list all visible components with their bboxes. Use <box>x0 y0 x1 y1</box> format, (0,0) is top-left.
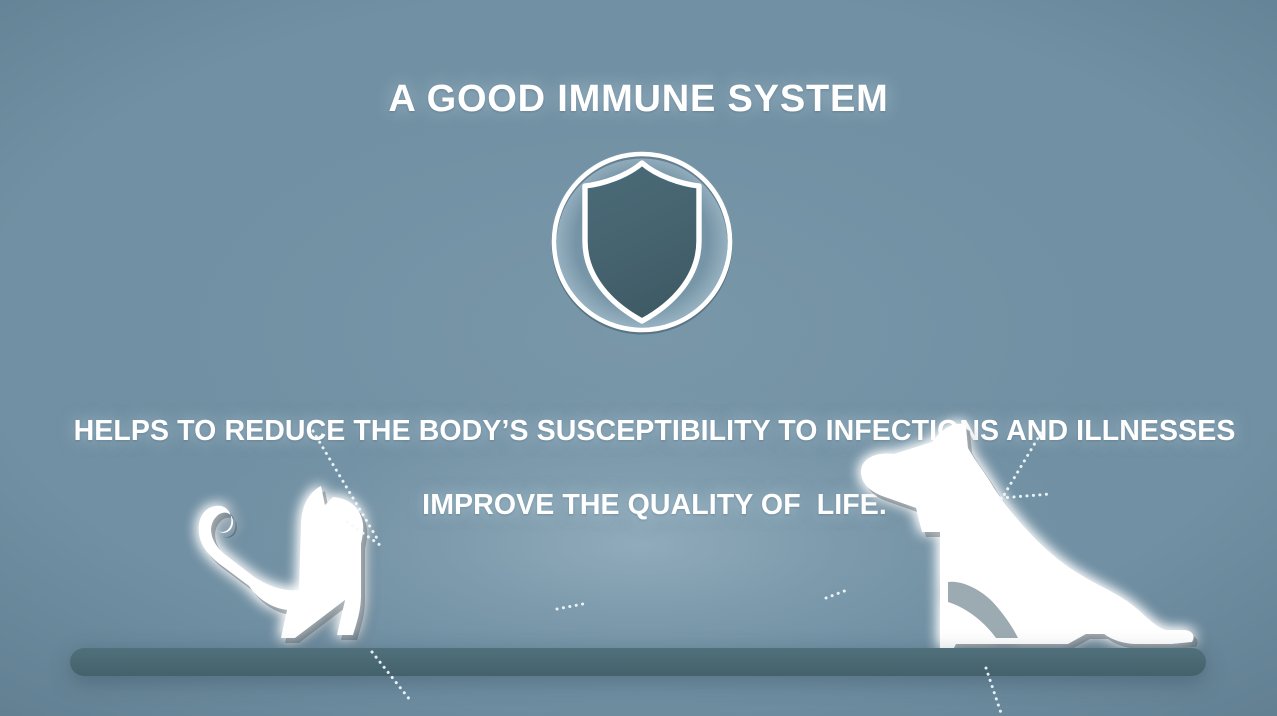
page-title: A GOOD IMMUNE SYSTEM <box>0 78 1277 121</box>
dog-silhouette <box>836 412 1216 674</box>
subtitle-line-2: IMPROVE THE QUALITY OF LIFE. <box>422 489 887 521</box>
shield-badge <box>549 149 735 335</box>
ground-bar <box>70 648 1206 676</box>
slide-canvas: A GOOD IMMUNE SYSTEM <box>0 0 1277 716</box>
